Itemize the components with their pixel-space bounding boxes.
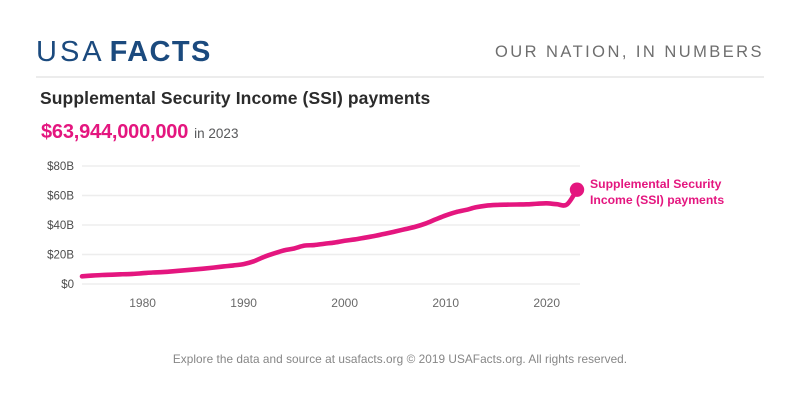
headline-year: in 2023 [194,126,238,141]
x-axis-tick-label: 2010 [432,296,459,310]
y-axis-tick-label: $60B [47,191,74,203]
y-axis-tick-label: $80B [47,161,74,173]
series-endpoint-marker [570,182,584,196]
logo-text-usa: USA [36,38,105,67]
footer-attribution: Explore the data and source at usafacts.… [0,352,800,366]
series-line-ssi-payments [82,190,577,277]
y-axis-tick-label: $20B [47,250,74,262]
y-axis-labels: $0$20B$40B$60B$80B [47,161,74,291]
header-divider [36,76,764,78]
y-axis-tick-label: $0 [61,279,74,291]
series-label-line-2: Income (SSI) payments [590,193,790,209]
usafacts-logo[interactable]: USAFACTS [36,38,212,67]
x-axis-tick-label: 1990 [230,296,257,310]
page-title: Supplemental Security Income (SSI) payme… [40,88,430,109]
headline-stat: $63,944,000,000 in 2023 [41,121,238,144]
x-axis-tick-label: 1980 [129,296,156,310]
logo-text-facts: FACTS [110,38,212,67]
series-label-line-1: Supplemental Security [590,177,790,193]
x-axis-labels: 19801990200020102020 [129,296,560,310]
usafacts-chart-card: USAFACTS OUR NATION, IN NUMBERS Suppleme… [0,0,800,410]
series-label: Supplemental Security Income (SSI) payme… [590,177,790,208]
y-axis-tick-label: $40B [47,220,74,232]
gridlines [82,166,580,284]
x-axis-tick-label: 2020 [533,296,560,310]
page-header: USAFACTS OUR NATION, IN NUMBERS [36,28,764,76]
site-tagline: OUR NATION, IN NUMBERS [495,43,764,62]
x-axis-tick-label: 2000 [331,296,358,310]
headline-value: $63,944,000,000 [41,121,188,144]
